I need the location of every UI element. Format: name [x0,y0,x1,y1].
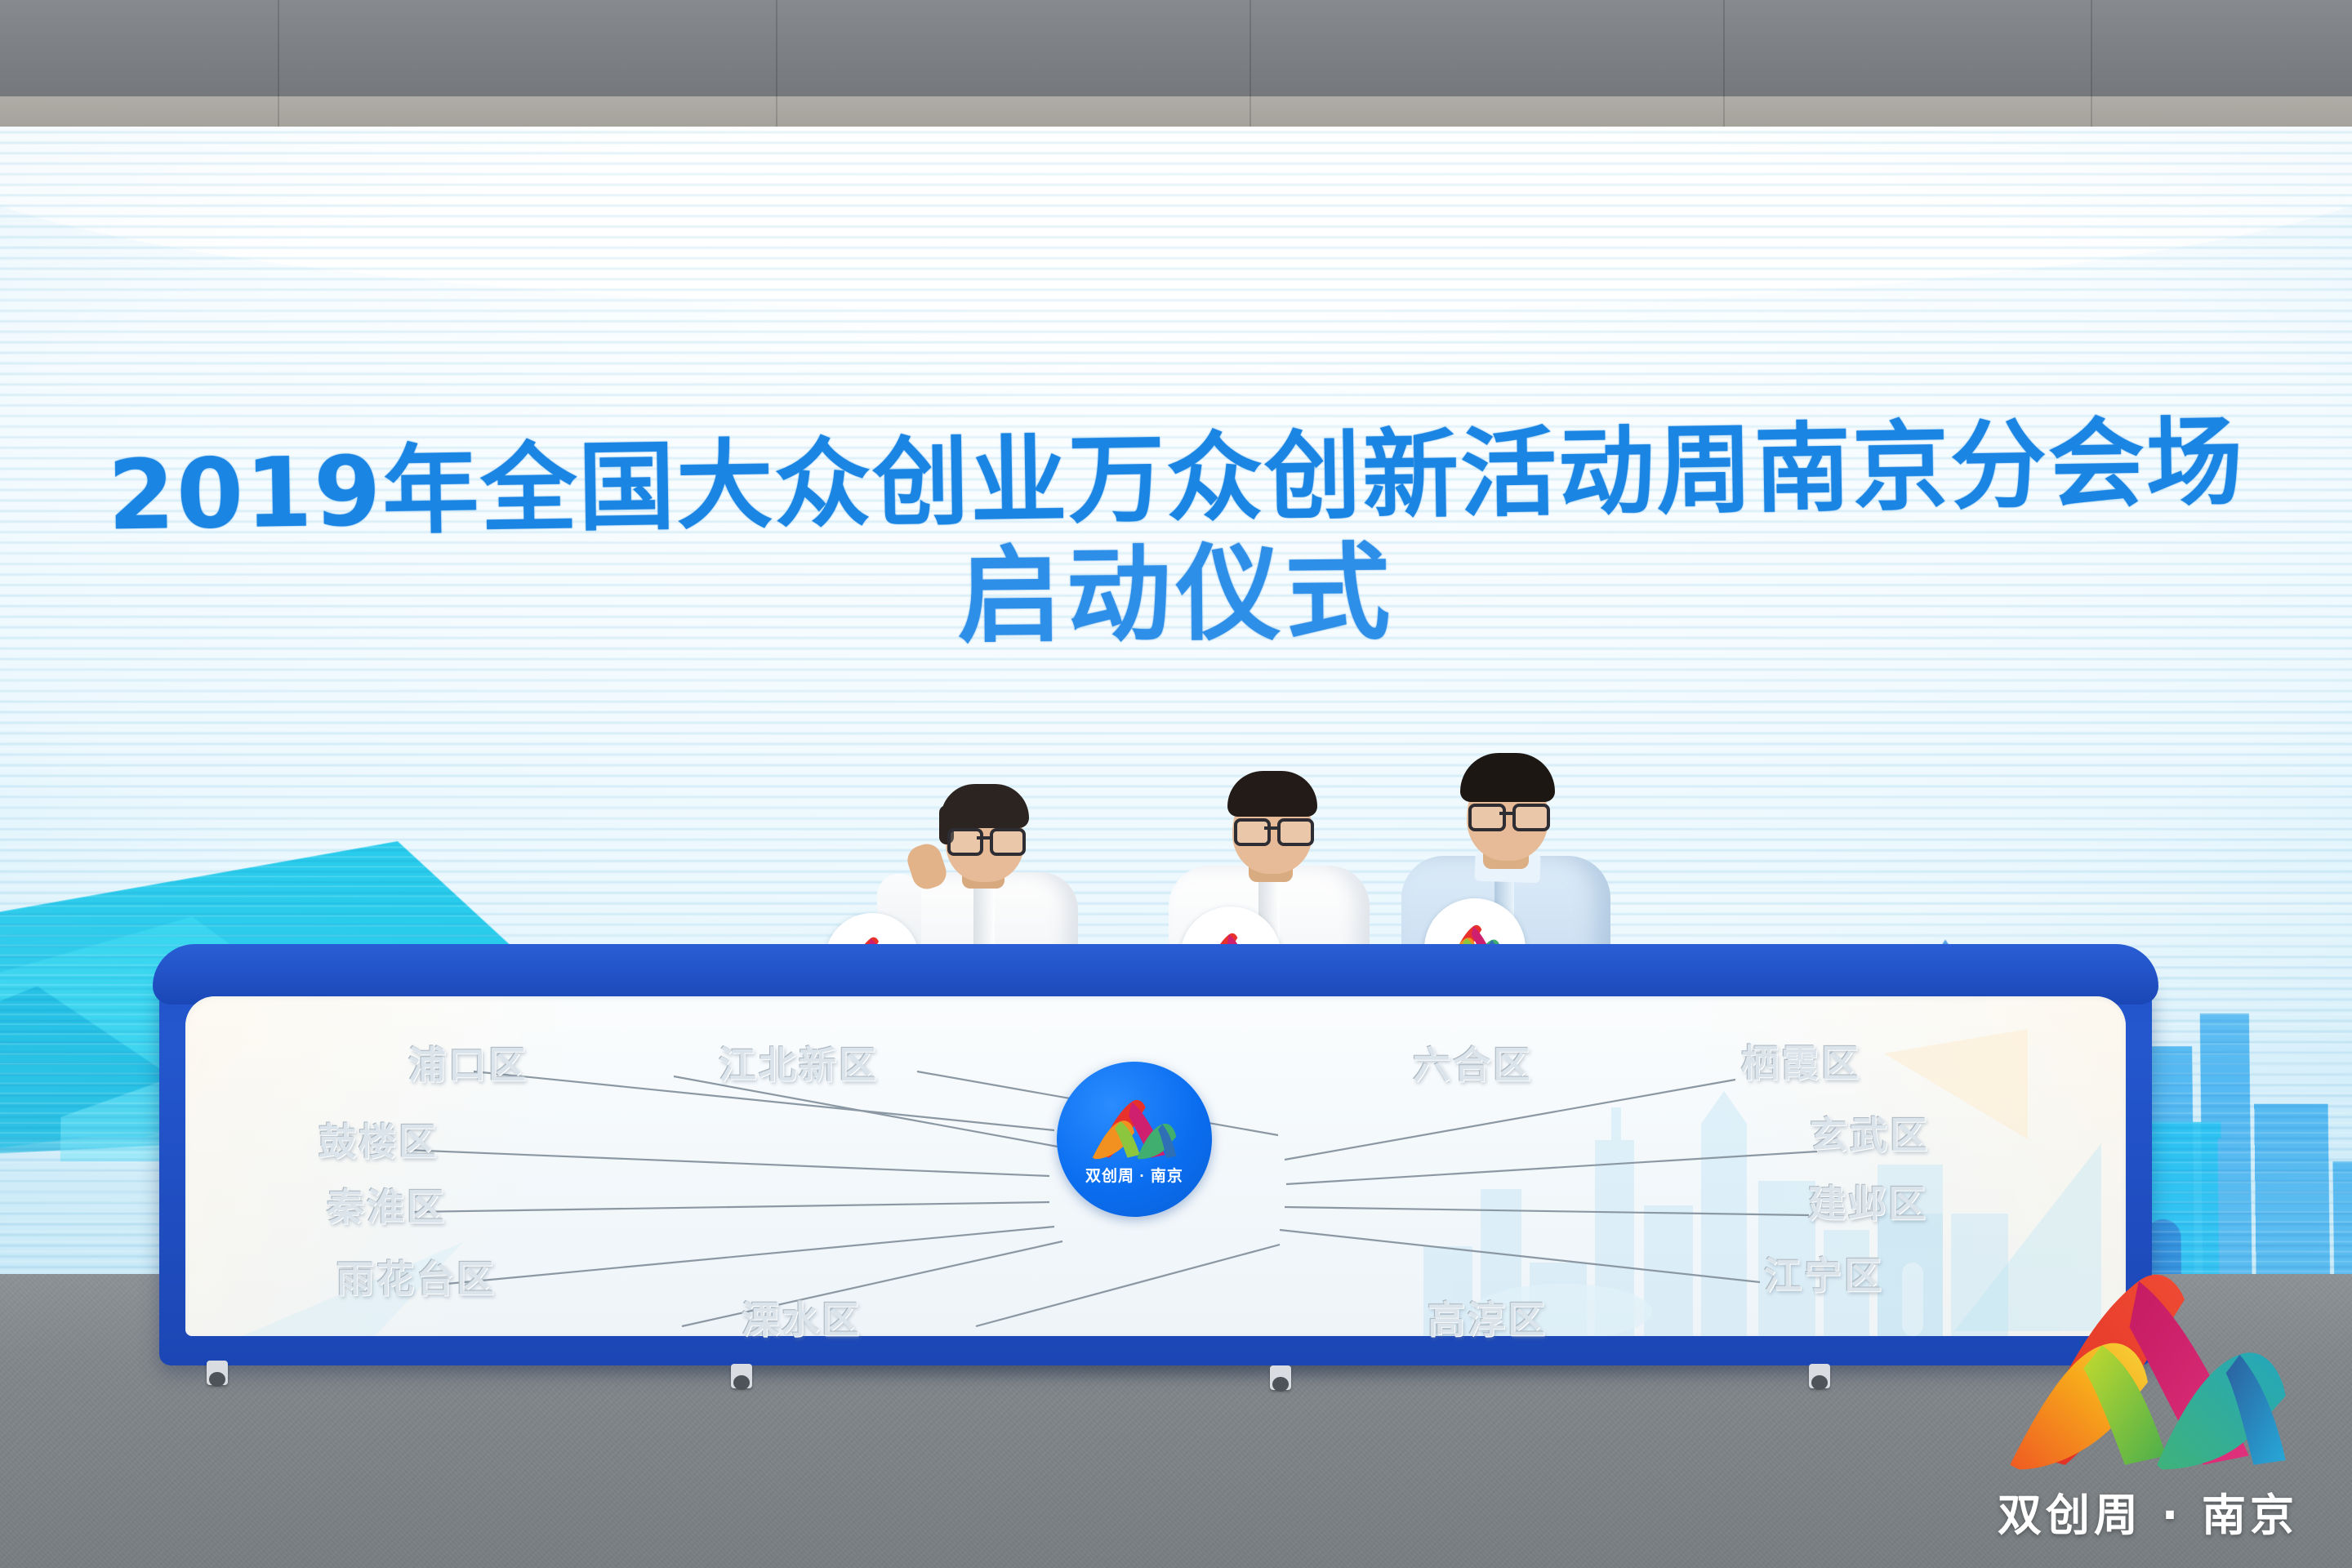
hair [1227,771,1317,817]
district-label-gaochun: 高淳区 [1428,1290,1548,1344]
watermark-label: 双创周 · 南京 [1998,1479,2298,1543]
glasses [1468,804,1550,826]
title-line-2: 启动仪式 [956,539,1395,653]
table-center-logo: 双创周 · 南京 [1057,1062,1212,1217]
shuangchuangzhou-logo-icon [1984,1254,2311,1474]
district-label-jianye: 建邺区 [1808,1174,1928,1228]
center-logo-label: 双创周 · 南京 [1085,1164,1183,1186]
district-label-gulou: 鼓楼区 [318,1112,439,1166]
district-label-pukou: 浦口区 [408,1036,528,1089]
event-photo-scene: 2019年全国大众创业万众创新活动周南京分会场 启动仪式 [0,0,2352,1568]
district-label-lishui: 溧水区 [742,1290,862,1344]
district-label-luhe: 六合区 [1413,1036,1533,1089]
district-label-jiangning: 江宁区 [1764,1246,1884,1300]
glasses [1234,818,1314,841]
district-label-yuhuatai: 雨花台区 [336,1249,497,1303]
corner-watermark: 双创周 · 南京 [1976,1249,2319,1543]
district-label-qixia: 栖霞区 [1741,1034,1861,1088]
district-label-jiangbei-new-area: 江北新区 [719,1036,879,1089]
glasses [947,828,1026,851]
district-label-xuanwu: 玄武区 [1810,1106,1930,1160]
hair [941,784,1029,828]
district-label-qinhuai: 秦淮区 [327,1178,447,1232]
hair [1460,753,1555,802]
shuangchuangzhou-logo-icon [1089,1094,1180,1160]
